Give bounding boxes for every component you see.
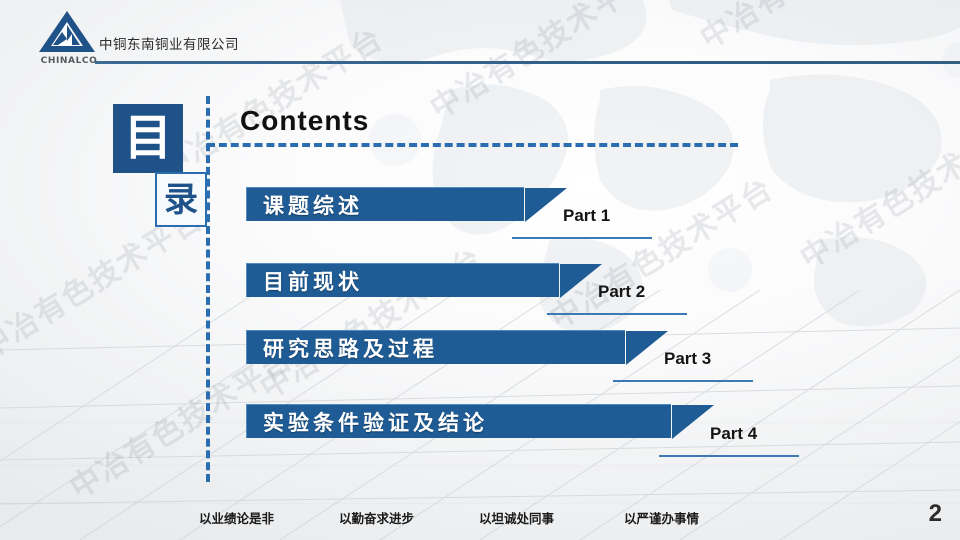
part-label: Part 4 <box>710 424 757 444</box>
part-underline <box>512 237 652 239</box>
part-underline <box>613 380 753 382</box>
menu-item-label: 实验条件验证及结论 <box>247 407 488 437</box>
slide-canvas: 中冶有色技术平台 中冶有色技术平台 中冶有色技术平台 中冶有色技术平台 中冶有色… <box>0 0 960 540</box>
footer-slogan: 以勤奋求进步 <box>339 508 414 527</box>
footer-slogan: 以坦诚处同事 <box>479 508 554 527</box>
menu-item-label: 目前现状 <box>247 266 363 296</box>
menu-item-label: 研究思路及过程 <box>247 333 438 363</box>
header-divider <box>95 61 960 64</box>
footer-slogan: 以严谨办事情 <box>624 508 699 527</box>
menu-banner[interactable]: 研究思路及过程 <box>246 330 625 364</box>
part-label: Part 1 <box>563 206 610 226</box>
menu-banner[interactable]: 课题综述 <box>246 187 524 221</box>
footer-slogan: 以业绩论是非 <box>199 508 274 527</box>
contents-lu-badge: 录 <box>155 172 207 227</box>
part-underline <box>659 455 799 457</box>
chinalco-logo: CHINALCO <box>36 8 102 66</box>
company-name: 中铜东南铜业有限公司 <box>99 33 239 53</box>
contents-mu-badge: 目 <box>113 104 183 173</box>
menu-item-label: 课题综述 <box>247 190 363 220</box>
menu-banner[interactable]: 实验条件验证及结论 <box>246 404 671 438</box>
part-label: Part 2 <box>598 282 645 302</box>
horizontal-dashed-divider <box>207 143 738 147</box>
part-underline <box>547 313 687 315</box>
page-title: Contents <box>240 105 369 137</box>
vertical-dashed-divider <box>206 96 210 482</box>
svg-text:CHINALCO: CHINALCO <box>41 56 98 66</box>
menu-banner[interactable]: 目前现状 <box>246 263 559 297</box>
page-number: 2 <box>929 500 942 528</box>
part-label: Part 3 <box>664 349 711 369</box>
